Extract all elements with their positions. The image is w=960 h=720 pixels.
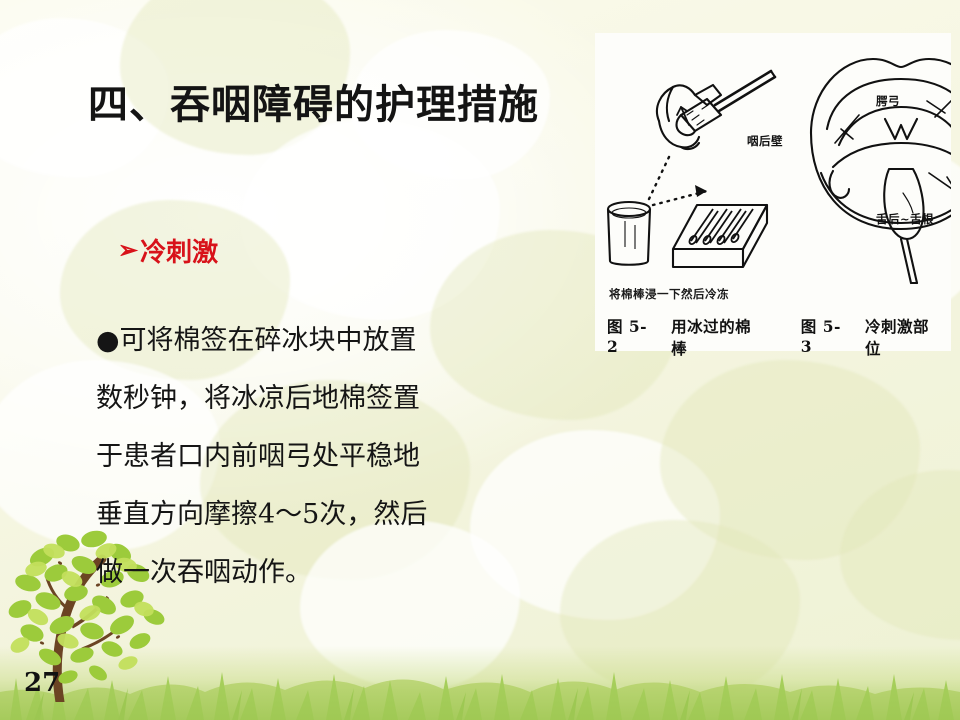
- page-number: 27: [24, 668, 60, 698]
- subheading-label: 冷刺激: [140, 232, 218, 269]
- label-tongue-base: 舌后~舌根: [876, 211, 934, 227]
- body-paragraph: ●可将棉签在碎冰块中放置 数秒钟，将冰凉后地棉签置 于患者口内前咽弓处平稳地 垂…: [96, 312, 516, 602]
- figure-caption: 用冰过的棉棒: [671, 315, 765, 359]
- body-line: 于患者口内前咽弓处平稳地: [96, 428, 516, 486]
- label-pharyngeal-wall: 咽后壁: [747, 133, 783, 149]
- body-line: 数秒钟，将冰凉后地棉签置: [96, 370, 516, 428]
- illustration-panel: 咽后壁 腭弓 舌后~舌根 将棉棒浸一下然后冷冻 图 5-2 用冰过的棉棒 图 5…: [595, 33, 951, 351]
- body-line: 做一次吞咽动作。: [96, 544, 516, 602]
- body-line: 垂直方向摩擦4～5次，然后: [96, 486, 516, 544]
- figure-captions: 图 5-2 用冰过的棉棒 图 5-3 冷刺激部位: [607, 315, 943, 359]
- medical-illustration-svg: [595, 33, 951, 351]
- label-palatine-arch: 腭弓: [876, 93, 900, 109]
- page-title: 四、吞咽障碍的护理措施: [88, 72, 539, 130]
- figure-caption: 冷刺激部位: [865, 315, 943, 359]
- arrow-bullet-icon: ➢: [118, 238, 138, 262]
- figure-number: 图 5-3: [801, 315, 851, 356]
- illustration-note: 将棉棒浸一下然后冷冻: [609, 286, 729, 302]
- slide-canvas: 四、吞咽障碍的护理措施 ➢ 冷刺激 ●可将棉签在碎冰块中放置 数秒钟，将冰凉后地…: [0, 0, 960, 720]
- figure-number: 图 5-2: [607, 315, 657, 356]
- body-line: ●可将棉签在碎冰块中放置: [96, 312, 516, 370]
- subheading: ➢ 冷刺激: [118, 232, 218, 269]
